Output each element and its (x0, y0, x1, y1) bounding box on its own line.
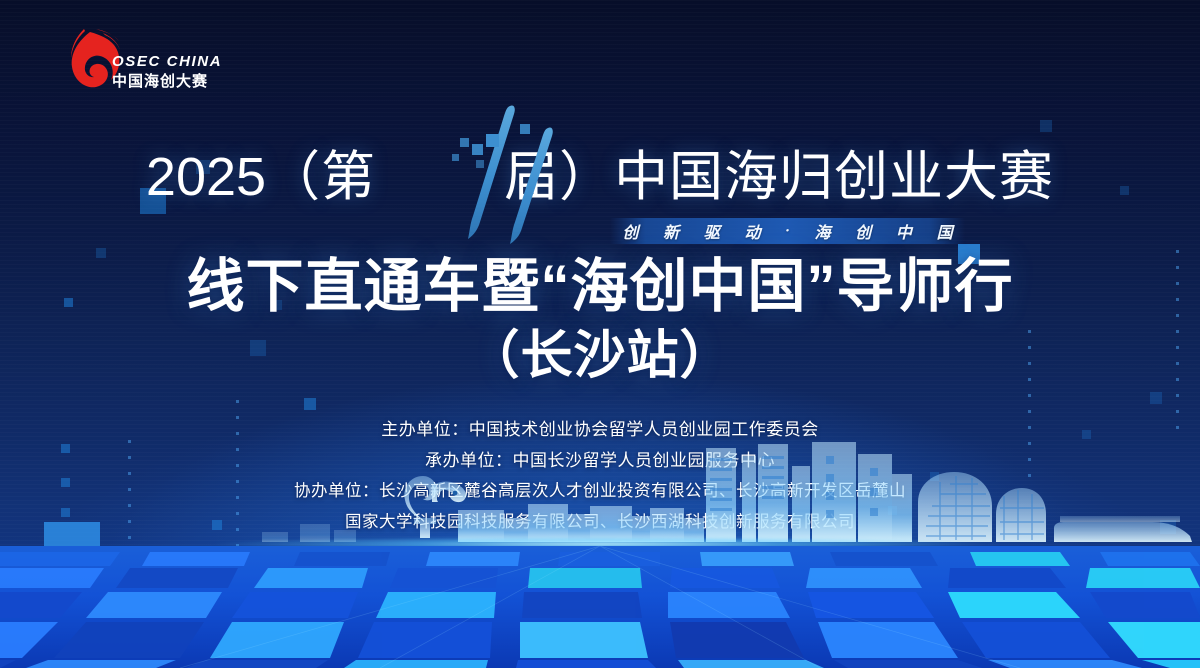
city-skyline (0, 440, 1200, 550)
decor-square (1040, 120, 1052, 132)
logo-cn-name: 中国海创大赛 (112, 70, 208, 91)
high-speed-train-icon (1054, 516, 1192, 542)
brush-stroke-double-slash-icon (444, 98, 574, 248)
tagline-char: 新 (663, 219, 679, 243)
tagline-char: 创 (622, 219, 638, 243)
tagline-char: 中 (896, 219, 912, 243)
decor-square (304, 398, 316, 410)
floor-tiles-icon (0, 546, 1200, 668)
logo-en-name: OSEC CHINA (112, 53, 222, 70)
main-heading-line-2: （长沙站） (0, 330, 1200, 382)
decor-square (96, 248, 106, 258)
poster-canvas: OSEC CHINA 中国海创大赛 2025（第届）中国海归创业大赛 (0, 0, 1200, 668)
tagline-char: 驱 (704, 219, 720, 243)
perspective-floor-grid (0, 546, 1200, 668)
main-heading-line-1: 线下直通车暨“海创中国”导师行 (0, 258, 1200, 316)
calligraphy-tagline: 创 新 驱 动 · 海 创 中 国 (610, 218, 965, 244)
title-prefix: （第 (266, 147, 376, 207)
tagline-char: 海 (814, 219, 830, 243)
orange-isle-sculpture-icon (404, 476, 466, 538)
tagline-separator: · (785, 224, 790, 239)
event-logo[interactable]: OSEC CHINA 中国海创大赛 (62, 27, 212, 95)
title-event-name: 中国海归创业大赛 (614, 147, 1054, 207)
tagline-char: 动 (745, 219, 761, 243)
decor-square (1150, 392, 1162, 404)
tagline-char: 创 (855, 219, 871, 243)
competition-title-line: 2025（第届）中国海归创业大赛 (0, 150, 1200, 204)
title-year: 2025 (146, 147, 266, 207)
tagline-char: 国 (937, 219, 953, 243)
skyline-silhouette-icon (0, 440, 1200, 550)
